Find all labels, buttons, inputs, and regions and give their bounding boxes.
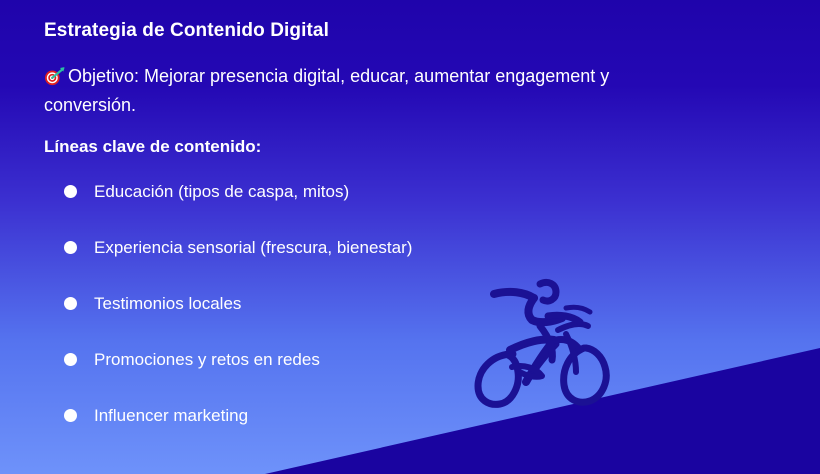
section-heading: Líneas clave de contenido: <box>44 137 261 157</box>
list-item: Testimonios locales <box>60 290 620 346</box>
list-item-label: Promociones y retos en redes <box>94 350 320 369</box>
content-lines-list: Educación (tipos de caspa, mitos) Experi… <box>60 178 620 458</box>
dart-target-icon <box>44 66 66 86</box>
presentation-slide: Estrategia de Contenido Digital Objetivo… <box>0 0 820 474</box>
bullet-dot-icon <box>64 241 77 254</box>
list-item: Experiencia sensorial (frescura, bienest… <box>60 234 620 290</box>
objective-statement: Objetivo: Mejorar presencia digital, edu… <box>44 62 694 120</box>
objective-text: Objetivo: Mejorar presencia digital, edu… <box>44 66 609 115</box>
list-item: Promociones y retos en redes <box>60 346 620 402</box>
page-title: Estrategia de Contenido Digital <box>44 20 329 42</box>
list-item-label: Experiencia sensorial (frescura, bienest… <box>94 238 412 257</box>
list-item-label: Educación (tipos de caspa, mitos) <box>94 182 349 201</box>
list-item-label: Testimonios locales <box>94 294 241 313</box>
list-item-label: Influencer marketing <box>94 406 248 425</box>
bullet-dot-icon <box>64 297 77 310</box>
bullet-dot-icon <box>64 353 77 366</box>
list-item: Educación (tipos de caspa, mitos) <box>60 178 620 234</box>
list-item: Influencer marketing <box>60 402 620 458</box>
bullet-dot-icon <box>64 409 77 422</box>
slide-content: Estrategia de Contenido Digital Objetivo… <box>0 0 820 474</box>
bullet-dot-icon <box>64 185 77 198</box>
